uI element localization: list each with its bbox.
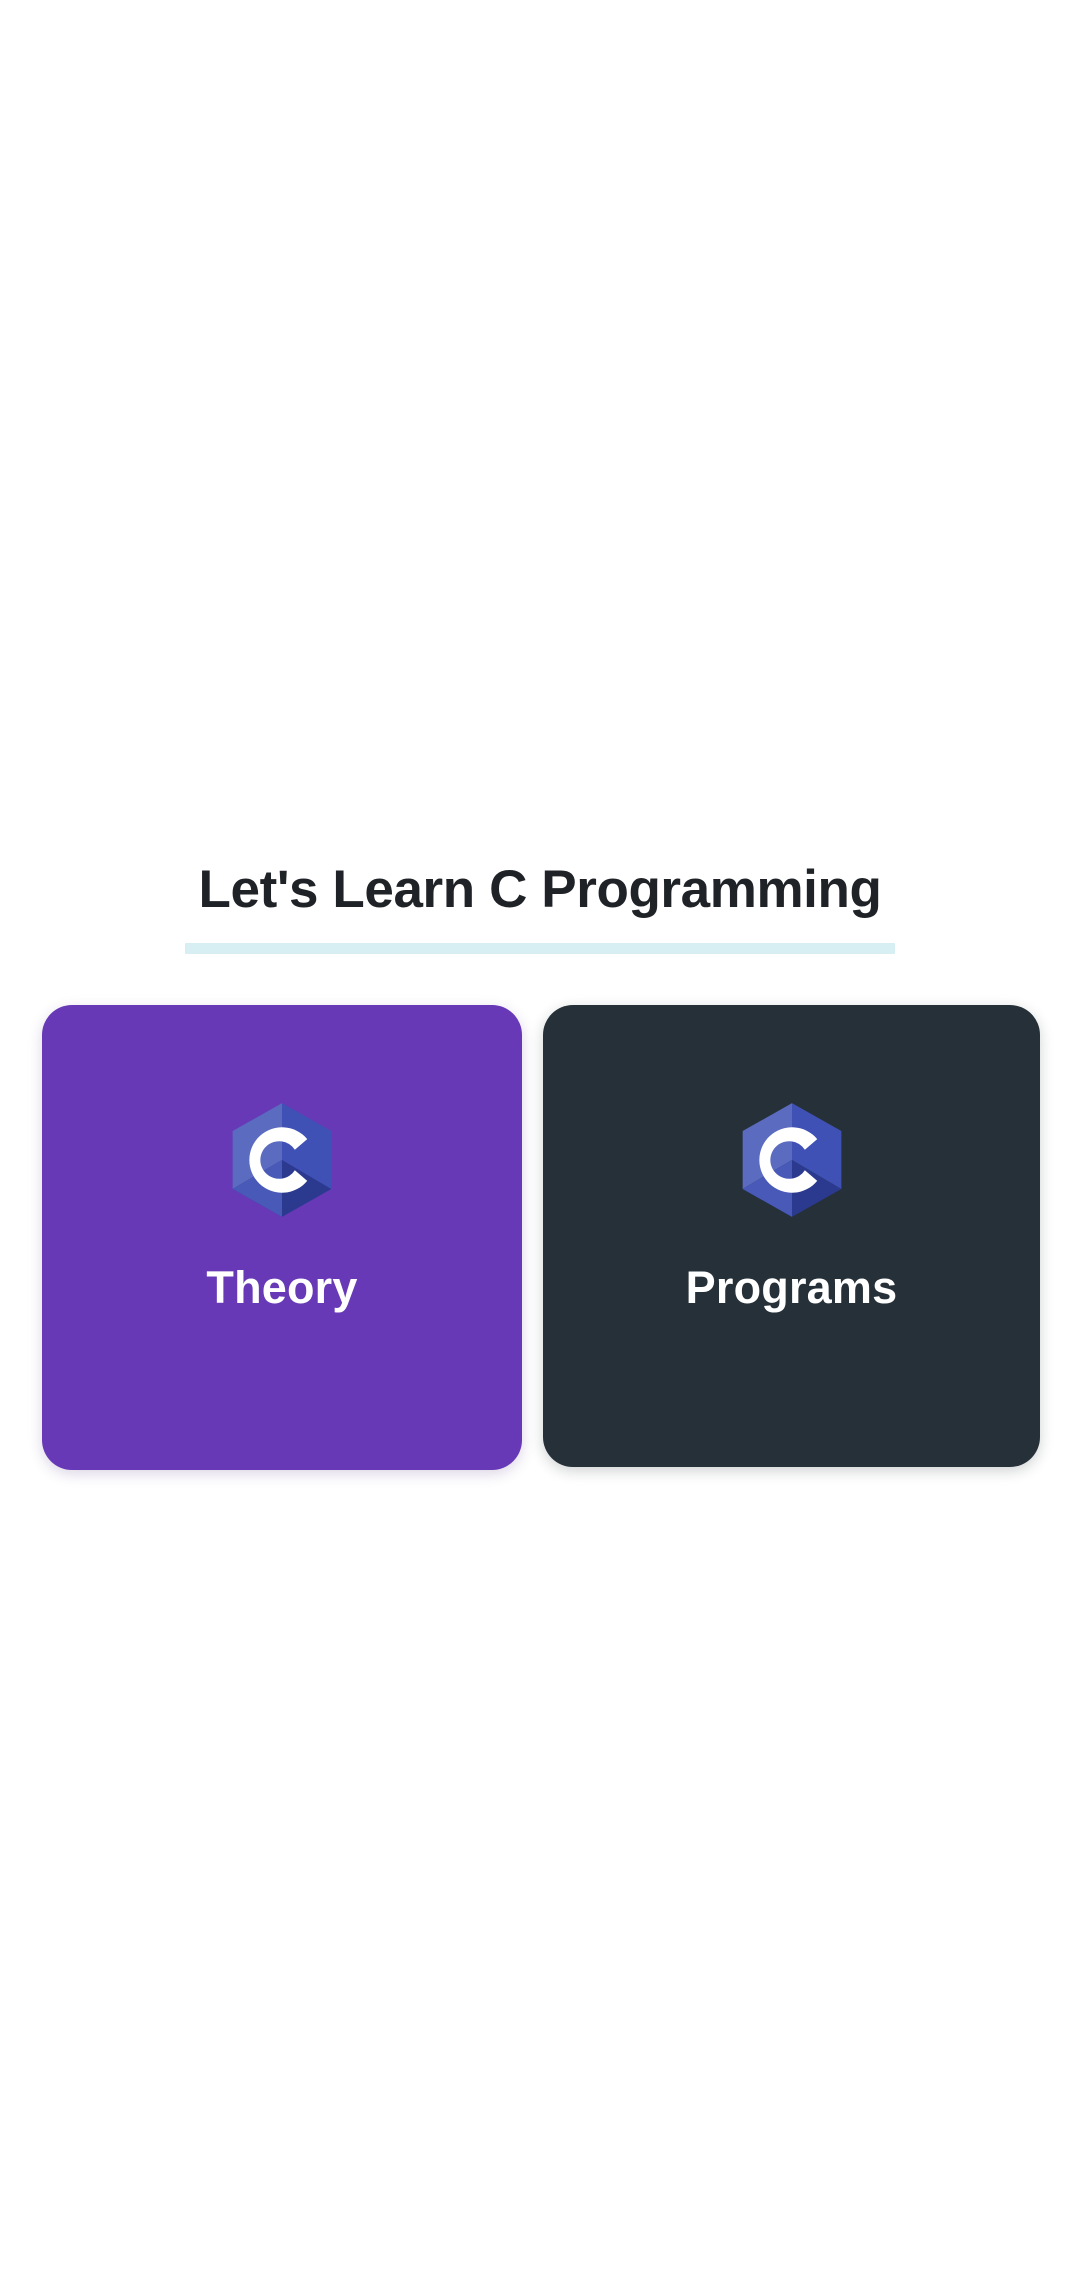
category-cards-row: Theory Programs	[42, 1005, 1040, 1470]
card-theory[interactable]: Theory	[42, 1005, 522, 1470]
card-theory-label: Theory	[206, 1261, 357, 1315]
page-title: Let's Learn C Programming	[0, 855, 1080, 925]
c-language-logo-icon	[738, 1101, 846, 1219]
card-programs-label: Programs	[686, 1261, 898, 1315]
c-language-logo-icon	[228, 1101, 336, 1219]
card-programs[interactable]: Programs	[543, 1005, 1040, 1467]
title-underline-accent	[185, 943, 895, 954]
header-block: Let's Learn C Programming	[0, 855, 1080, 925]
app-screen: Let's Learn C Programming Theory	[0, 0, 1080, 2292]
